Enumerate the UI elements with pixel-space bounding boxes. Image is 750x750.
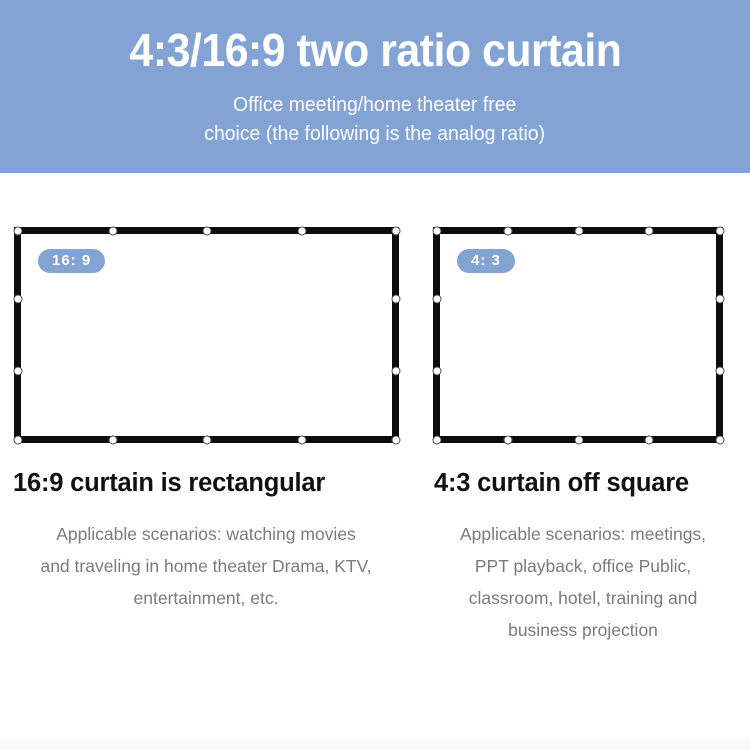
grommet-icon <box>13 226 22 235</box>
panel-heading-4-3: 4:3 curtain off square <box>434 469 733 498</box>
grommet-icon <box>645 226 654 235</box>
grommet-icon <box>432 226 441 235</box>
grommet-icon <box>109 226 118 235</box>
panel-description-16-9: Applicable scenarios: watching movies an… <box>14 519 398 615</box>
grommet-icon <box>13 367 22 376</box>
grommet-icon <box>715 226 724 235</box>
grommet-icon <box>432 367 441 376</box>
grommet-icon <box>575 226 584 235</box>
page-subtitle: Office meeting/home theater free choice … <box>205 91 546 149</box>
grommet-icon <box>715 295 724 304</box>
grommet-icon <box>575 435 584 444</box>
grommet-icon <box>13 435 22 444</box>
panel-four-three: 4: 3 4:3 curtain off square Applicable s… <box>420 173 750 750</box>
panel-description-4-3: Applicable scenarios: meetings, PPT play… <box>433 519 733 646</box>
header-banner: 4:3/16:9 two ratio curtain Office meetin… <box>0 0 750 173</box>
page-title: 4:3/16:9 two ratio curtain <box>129 27 621 73</box>
grommet-icon <box>504 435 513 444</box>
grommet-icon <box>203 226 212 235</box>
grommet-icon <box>645 435 654 444</box>
grommet-icon <box>432 435 441 444</box>
grommet-icon <box>391 367 400 376</box>
curtain-graphic-16-9: 16: 9 <box>14 227 399 443</box>
grommet-icon <box>109 435 118 444</box>
panel-sixteen-nine: 16: 9 16:9 curtain is rectangular Applic… <box>0 173 420 750</box>
ratio-badge-16-9: 16: 9 <box>38 249 105 273</box>
ratio-badge-4-3: 4: 3 <box>457 249 515 273</box>
grommet-icon <box>504 226 513 235</box>
grommet-icon <box>715 435 724 444</box>
grommet-icon <box>715 367 724 376</box>
grommet-icon <box>432 295 441 304</box>
panel-heading-16-9: 16:9 curtain is rectangular <box>13 469 398 498</box>
grommet-icon <box>391 435 400 444</box>
grommet-icon <box>391 295 400 304</box>
grommet-icon <box>298 435 307 444</box>
grommet-icon <box>203 435 212 444</box>
grommet-icon <box>13 295 22 304</box>
panels-container: 16: 9 16:9 curtain is rectangular Applic… <box>0 173 750 750</box>
grommet-icon <box>298 226 307 235</box>
curtain-graphic-4-3: 4: 3 <box>433 227 723 443</box>
grommet-icon <box>391 226 400 235</box>
